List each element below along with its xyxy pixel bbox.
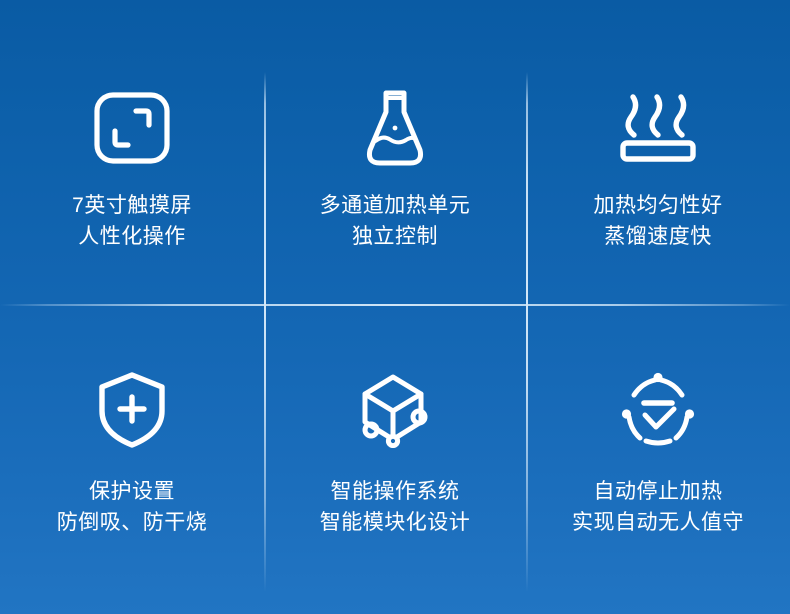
feature-cell-auto-stop: 自动停止加热 实现自动无人值守: [526, 304, 790, 614]
feature-cell-even-heating: 加热均匀性好 蒸馏速度快: [526, 0, 790, 304]
feature-label-line2: 独立控制: [320, 221, 471, 252]
module-cube-icon: [355, 370, 435, 450]
feature-label-line2: 蒸馏速度快: [594, 221, 723, 252]
feature-label: 多通道加热单元 独立控制: [320, 190, 471, 252]
feature-label-line2: 实现自动无人值守: [572, 507, 744, 538]
feature-label: 自动停止加热 实现自动无人值守: [572, 476, 744, 538]
conical-flask-icon: [362, 88, 428, 168]
touchscreen-frame-icon: [93, 88, 171, 168]
feature-grid: 7英寸触摸屏 人性化操作 多通道加热单元 独立控制: [0, 0, 790, 614]
feature-cell-smart-os: 智能操作系统 智能模块化设计: [264, 304, 526, 614]
feature-label-line1: 多通道加热单元: [320, 190, 471, 221]
feature-label-line2: 人性化操作: [72, 221, 192, 252]
feature-label-line1: 自动停止加热: [572, 476, 744, 507]
product-feature-panel: 7英寸触摸屏 人性化操作 多通道加热单元 独立控制: [0, 0, 790, 614]
shield-plus-icon: [96, 370, 168, 450]
feature-label: 保护设置 防倒吸、防干烧: [57, 476, 208, 538]
heating-steam-icon: [616, 88, 700, 168]
auto-check-circle-icon: [618, 370, 698, 450]
feature-cell-touchscreen: 7英寸触摸屏 人性化操作: [0, 0, 264, 304]
feature-label-line1: 智能操作系统: [320, 476, 471, 507]
feature-label: 7英寸触摸屏 人性化操作: [72, 190, 192, 252]
feature-cell-protection: 保护设置 防倒吸、防干烧: [0, 304, 264, 614]
feature-label-line1: 7英寸触摸屏: [72, 190, 192, 221]
feature-label-line1: 加热均匀性好: [594, 190, 723, 221]
feature-label: 智能操作系统 智能模块化设计: [320, 476, 471, 538]
feature-cell-heating-unit: 多通道加热单元 独立控制: [264, 0, 526, 304]
feature-label: 加热均匀性好 蒸馏速度快: [594, 190, 723, 252]
feature-label-line2: 智能模块化设计: [320, 507, 471, 538]
feature-label-line1: 保护设置: [57, 476, 208, 507]
feature-label-line2: 防倒吸、防干烧: [57, 507, 208, 538]
